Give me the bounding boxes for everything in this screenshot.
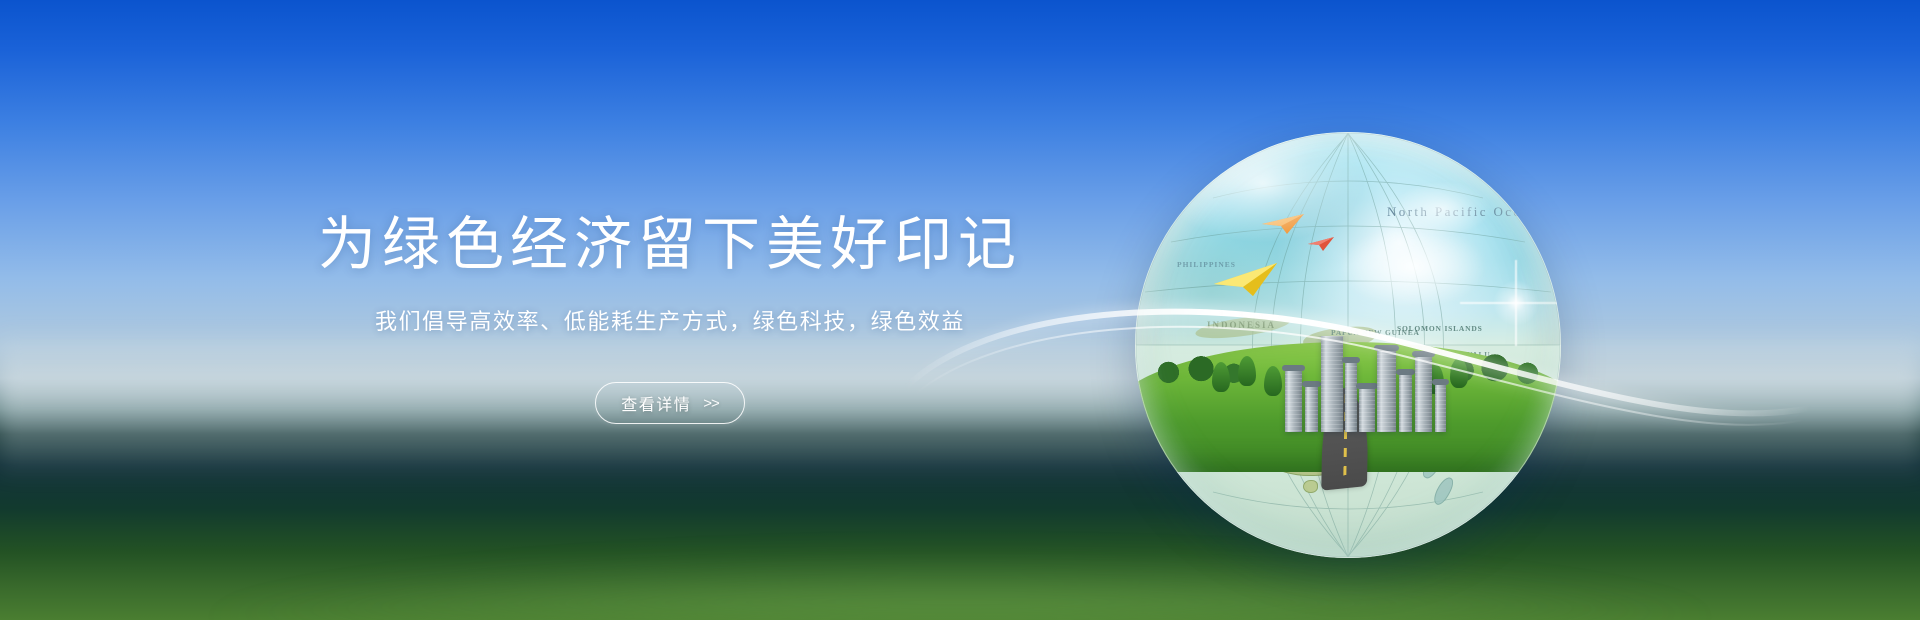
cta-label: 查看详情: [621, 391, 691, 415]
view-details-button[interactable]: 查看详情 >>: [595, 382, 745, 424]
page-subtitle: 我们倡导高效率、低能耗生产方式，绿色科技，绿色效益: [0, 307, 1340, 338]
chevron-right-icon: >>: [703, 395, 719, 412]
page-title: 为绿色经济留下美好印记: [0, 214, 1340, 275]
cta-wrapper: 查看详情 >>: [0, 382, 1340, 424]
building: [1415, 356, 1432, 432]
building: [1359, 388, 1375, 432]
ground-glow: [0, 480, 1920, 620]
hero-copy: 为绿色经济留下美好印记 我们倡导高效率、低能耗生产方式，绿色科技，绿色效益 查看…: [0, 214, 1340, 424]
building: [1345, 362, 1357, 432]
hero-banner: North Pacific Ocean INDONESIA PHILIPPINE…: [0, 0, 1920, 620]
building: [1377, 350, 1396, 432]
building: [1435, 384, 1446, 432]
building: [1399, 374, 1412, 432]
